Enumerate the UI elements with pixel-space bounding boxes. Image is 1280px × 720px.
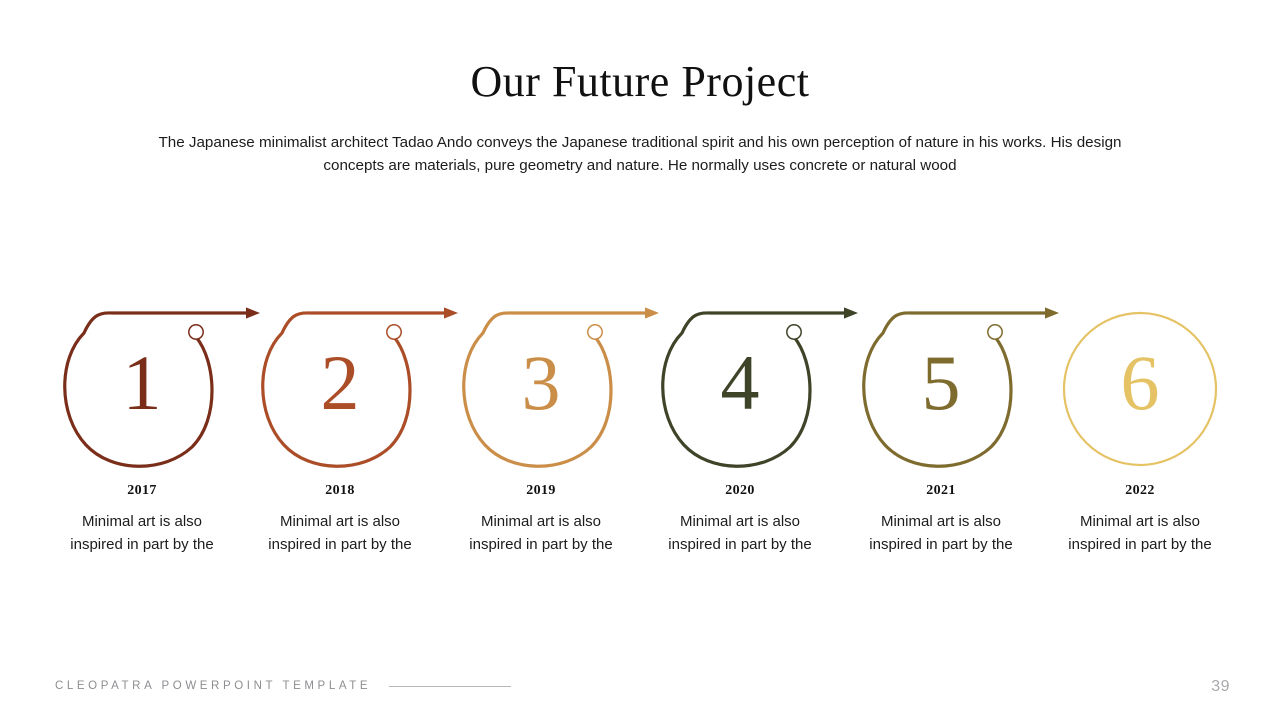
footer-brand-text: CLEOPATRA POWERPOINT TEMPLATE	[55, 680, 371, 692]
page-number: 39	[1211, 678, 1230, 696]
arrow-right-icon-4	[844, 307, 858, 318]
caption-year-2: 2018	[255, 484, 425, 498]
caption-year-4: 2020	[655, 484, 825, 498]
timeline-step-2[interactable]	[263, 307, 458, 466]
caption-block-1: 2017Minimal art is also inspired in part…	[57, 484, 227, 556]
timeline-captions: 2017Minimal art is also inspired in part…	[0, 484, 1280, 594]
timeline-step-1[interactable]	[65, 307, 260, 466]
footer: CLEOPATRA POWERPOINT TEMPLATE	[55, 680, 511, 692]
caption-description-6: Minimal art is also inspired in part by …	[1055, 510, 1225, 556]
open-circle-marker-icon-5	[988, 325, 1002, 339]
caption-description-5: Minimal art is also inspired in part by …	[856, 510, 1026, 556]
caption-year-6: 2022	[1055, 484, 1225, 498]
caption-block-3: 2019Minimal art is also inspired in part…	[456, 484, 626, 556]
timeline-step-4[interactable]	[663, 307, 858, 466]
arrow-right-icon-3	[645, 307, 659, 318]
timeline-step-5[interactable]	[864, 307, 1059, 466]
page-title: Our Future Project	[0, 58, 1280, 106]
timeline-graphics	[0, 296, 1280, 496]
caption-block-6: 2022Minimal art is also inspired in part…	[1055, 484, 1225, 556]
timeline-step-3[interactable]	[464, 307, 659, 466]
caption-block-2: 2018Minimal art is also inspired in part…	[255, 484, 425, 556]
slide-canvas: Our Future Project The Japanese minimali…	[0, 0, 1280, 720]
step-ring-6	[1064, 313, 1216, 465]
footer-divider	[389, 686, 511, 687]
open-circle-marker-icon-4	[787, 325, 801, 339]
spiral-arrow-path-2	[263, 313, 446, 466]
caption-block-4: 2020Minimal art is also inspired in part…	[655, 484, 825, 556]
caption-year-1: 2017	[57, 484, 227, 498]
page-subtitle: The Japanese minimalist architect Tadao …	[130, 131, 1150, 177]
caption-block-5: 2021Minimal art is also inspired in part…	[856, 484, 1026, 556]
caption-year-3: 2019	[456, 484, 626, 498]
spiral-arrow-path-5	[864, 313, 1047, 466]
open-circle-marker-icon-1	[189, 325, 203, 339]
timeline-diagram: 123456	[0, 296, 1280, 496]
caption-description-2: Minimal art is also inspired in part by …	[255, 510, 425, 556]
caption-year-5: 2021	[856, 484, 1026, 498]
spiral-arrow-path-3	[464, 313, 647, 466]
caption-description-4: Minimal art is also inspired in part by …	[655, 510, 825, 556]
caption-description-3: Minimal art is also inspired in part by …	[456, 510, 626, 556]
spiral-arrow-path-4	[663, 313, 846, 466]
open-circle-marker-icon-3	[588, 325, 602, 339]
arrow-right-icon-2	[444, 307, 458, 318]
spiral-arrow-path-1	[65, 313, 248, 466]
timeline-step-6[interactable]	[1064, 313, 1216, 465]
arrow-right-icon-5	[1045, 307, 1059, 318]
arrow-right-icon-1	[246, 307, 260, 318]
open-circle-marker-icon-2	[387, 325, 401, 339]
caption-description-1: Minimal art is also inspired in part by …	[57, 510, 227, 556]
